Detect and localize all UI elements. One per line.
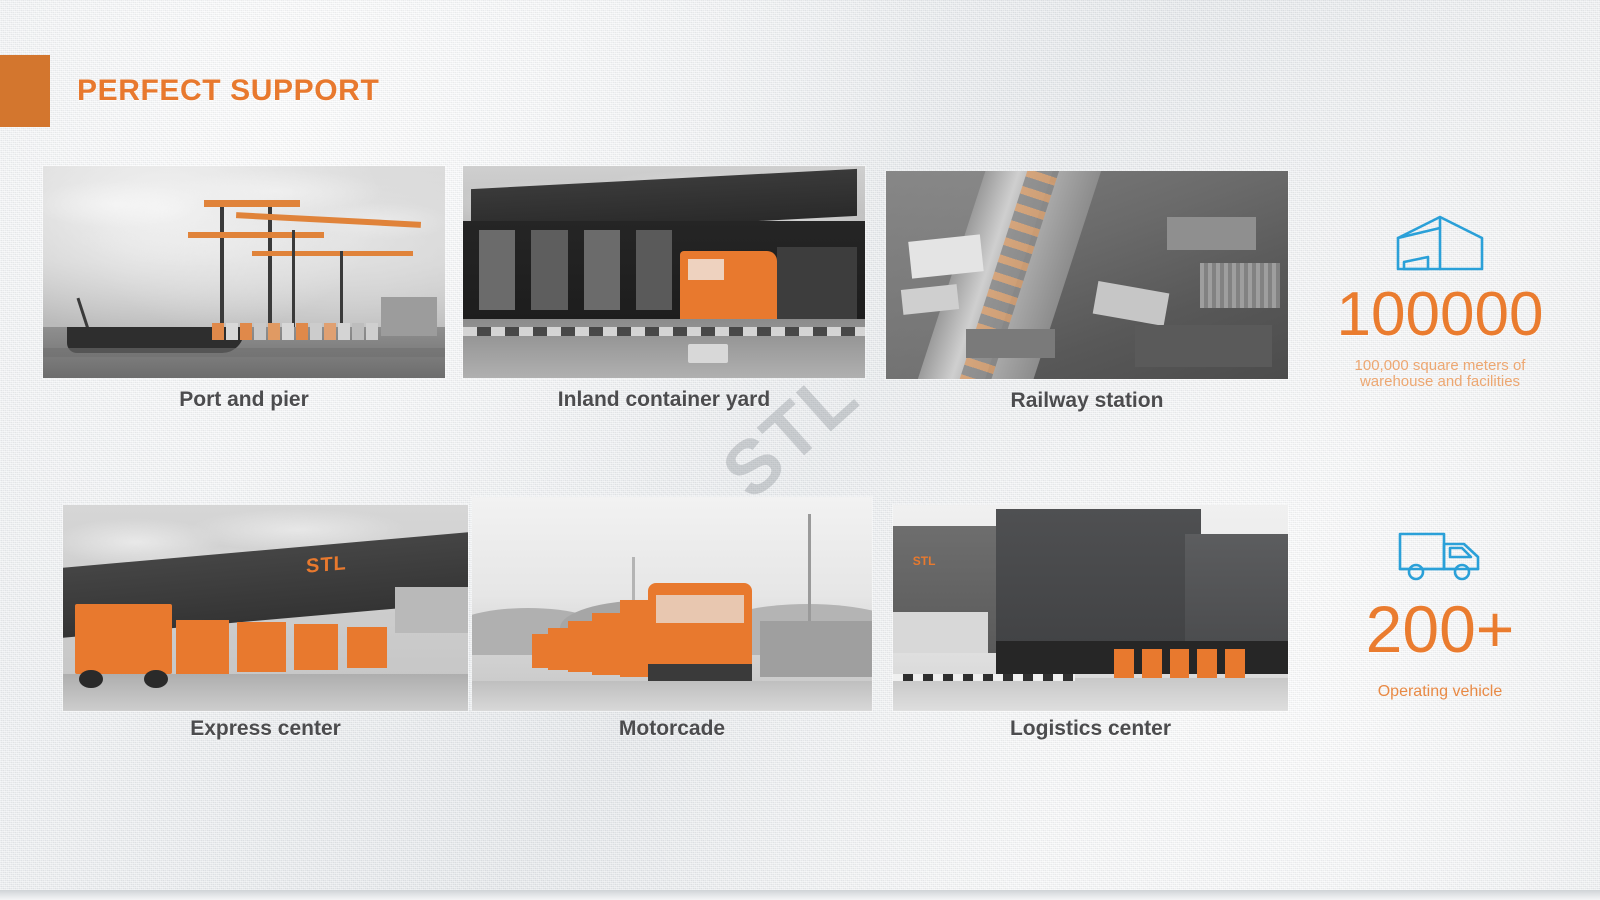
gallery-caption: Motorcade [472,717,872,741]
gallery-caption: Railway station [886,389,1288,413]
gallery-caption: Logistics center [893,717,1288,741]
metric-vehicle: 200+ Operating vehicle [1290,520,1590,701]
metric-description: 100,000 square meters of warehouse and f… [1290,358,1590,390]
gallery-caption: Inland container yard [463,388,865,412]
gallery-caption: Port and pier [43,388,445,412]
metric-value: 100000 [1290,284,1590,346]
gallery-caption: Express center [63,717,468,741]
slide-canvas: PERFECT SUPPORT STL [0,0,1600,900]
warehouse-icon [1290,208,1590,278]
railway-station-photo [886,171,1288,379]
gallery-item-port-and-pier[interactable]: Port and pier [43,166,445,378]
gallery-item-railway-station[interactable]: Railway station [886,171,1288,379]
gallery-item-motorcade[interactable]: Motorcade [472,497,872,711]
inland-container-yard-photo [463,166,865,378]
title-accent-square [0,55,50,127]
truck-icon [1290,520,1590,590]
background-texture [0,0,1600,900]
gallery-item-logistics-center[interactable]: STL Logistics center [893,505,1288,711]
gallery-item-express-center[interactable]: STL Express center [63,505,468,711]
gallery-item-inland-container-yard[interactable]: Inland container yard [463,166,865,378]
logistics-center-photo: STL [893,505,1288,711]
motorcade-photo [472,497,872,711]
slide-bottom-edge [0,890,1600,900]
express-center-photo: STL [63,505,468,711]
page-title: PERFECT SUPPORT [77,74,379,108]
port-and-pier-photo [43,166,445,378]
metric-warehouse: 100000 100,000 square meters of warehous… [1290,208,1590,390]
metric-value: 200+ [1290,596,1590,662]
metric-description: Operating vehicle [1290,684,1590,701]
